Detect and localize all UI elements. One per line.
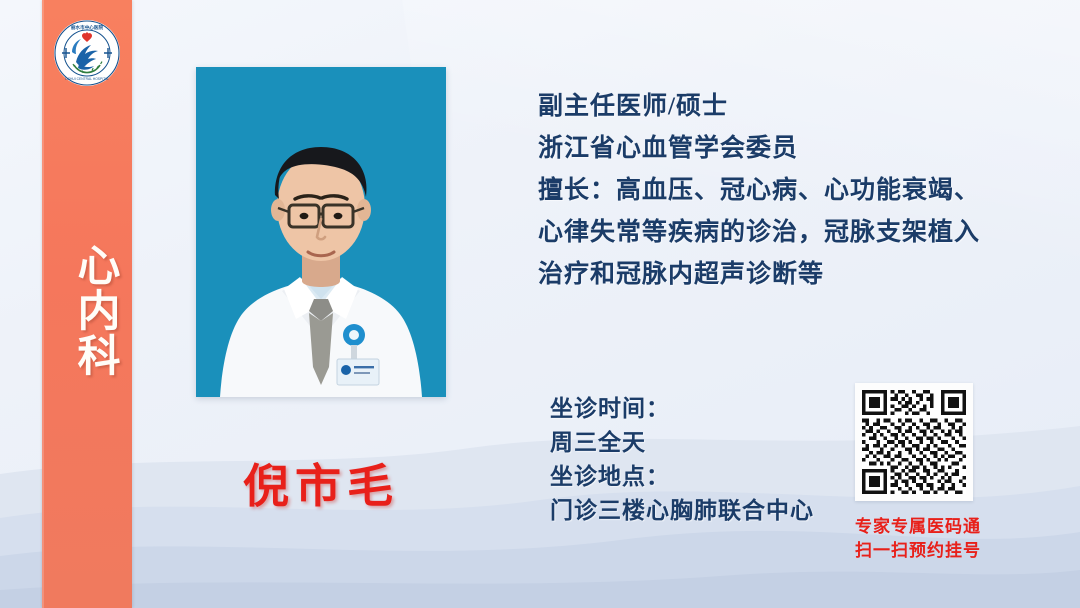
qr-code-caption: 专家专属医码通 扫一扫预约挂号 (838, 515, 998, 563)
schedule-place-value: 门诊三楼心胸肺联合中心 (550, 494, 880, 528)
qr-code-container[interactable] (855, 383, 973, 501)
consultation-schedule: 坐诊时间： 周三全天 坐诊地点： 门诊三楼心胸肺联合中心 (550, 392, 880, 528)
doctor-portrait-photo (196, 67, 446, 397)
credential-line-2: 浙江省心血管学会委员 (538, 128, 1008, 170)
doctor-credentials: 副主任医师/硕士 浙江省心血管学会委员 擅长：高血压、冠心病、心功能衰竭、 心律… (538, 86, 1008, 296)
credential-line-4: 心律失常等疾病的诊治，冠脉支架植入 (538, 212, 1008, 254)
hospital-logo-icon: 丽水市中心医院 LISHUI CENTRAL HOSPITAL (52, 18, 122, 88)
schedule-time-label: 坐诊时间： (550, 392, 880, 426)
qr-caption-line-1: 专家专属医码通 (838, 515, 998, 539)
credential-line-5: 治疗和冠脉内超声诊断等 (538, 254, 1008, 296)
svg-text:LISHUI CENTRAL HOSPITAL: LISHUI CENTRAL HOSPITAL (65, 77, 109, 81)
doctor-name: 倪市毛 (196, 450, 446, 516)
qr-caption-line-2: 扫一扫预约挂号 (838, 539, 998, 563)
qr-code-image[interactable] (855, 383, 973, 501)
credential-line-3: 擅长：高血压、冠心病、心功能衰竭、 (538, 170, 1008, 212)
doctor-intro-poster: 丽水市中心医院 LISHUI CENTRAL HOSPITAL 心内科 (0, 0, 1080, 608)
schedule-time-value: 周三全天 (550, 426, 880, 460)
credential-line-1: 副主任医师/硕士 (538, 86, 1008, 128)
svg-text:丽水市中心医院: 丽水市中心医院 (71, 24, 104, 31)
department-name: 心内科 (42, 185, 132, 435)
schedule-place-label: 坐诊地点： (550, 460, 880, 494)
